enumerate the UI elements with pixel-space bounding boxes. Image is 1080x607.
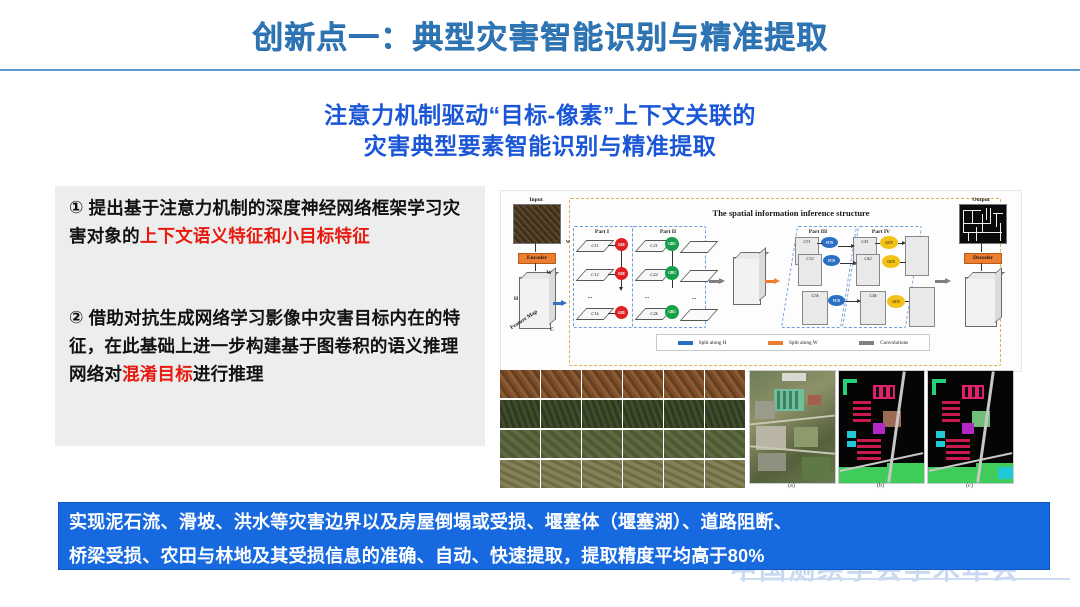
part3-op-1: FCN xyxy=(821,237,838,248)
sample-image-b xyxy=(838,370,925,484)
part3-node-3: C3k xyxy=(802,291,828,325)
part4-out-2 xyxy=(909,287,935,327)
image-patch xyxy=(582,370,622,398)
page-title: 创新点一：典型灾害智能识别与精准提取 xyxy=(0,12,1080,57)
image-patch xyxy=(623,460,663,488)
bullet-2-text-tail: 进行推理 xyxy=(193,364,264,384)
title-divider xyxy=(0,69,1080,71)
slide-root: 创新点一：典型灾害智能识别与精准提取 注意力机制驱动“目标-像素”上下文关联的 … xyxy=(0,0,1080,607)
image-patch xyxy=(582,460,622,488)
bullet-panel: ①提出基于注意力机制的深度神经网络框架学习灾害对象的上下文语义特征和小目标特征 … xyxy=(55,186,485,446)
image-patch xyxy=(705,460,745,488)
part2-op-3: GRU xyxy=(665,305,679,319)
output-feature-cube xyxy=(965,277,997,327)
subtitle: 注意力机制驱动“目标-像素”上下文关联的 灾害典型要素智能识别与精准提取 xyxy=(0,100,1080,162)
decoder-box: Decoder xyxy=(964,253,1002,264)
banner-line-2: 桥梁受损、农田与林地及其受损信息的准确、自动、快速提取，提取精度平均高于80% xyxy=(59,537,1049,571)
image-patch xyxy=(582,430,622,458)
input-image xyxy=(513,204,561,244)
arrow-mid-in xyxy=(709,279,725,284)
part2-op-1: GRU xyxy=(665,237,679,251)
diagram-legend: Split along H Split along W Convolutions xyxy=(656,334,930,351)
image-patch xyxy=(664,430,704,458)
part4-node-3: C4k xyxy=(860,291,886,325)
image-patch xyxy=(500,370,540,398)
part3-node-2: C32 xyxy=(798,254,822,286)
arrow-mid-out xyxy=(765,279,780,284)
summary-banner: 实现泥石流、滑坡、洪水等灾害边界以及房屋倒塌或受损、堰塞体（堰塞湖）、道路阻断、… xyxy=(58,502,1050,570)
part-4-label: Part IV xyxy=(850,229,912,235)
split-w-arrow-icon xyxy=(768,341,783,345)
bullet-item-2: ②借助对抗生成网络学习影像中灾害目标内在的特征，在此基础上进一步构建基于图卷积的… xyxy=(69,304,473,388)
part4-node-2: C42 xyxy=(856,254,880,286)
part-1-label: Part I xyxy=(573,229,631,235)
image-patch xyxy=(705,400,745,428)
part-3-label: Part III xyxy=(789,229,847,235)
diagram-title: The spatial information inference struct… xyxy=(641,208,941,218)
image-patch xyxy=(500,400,540,428)
image-patch xyxy=(664,460,704,488)
architecture-diagram: The spatial information inference struct… xyxy=(500,190,1022,372)
bullet-number-1: ① xyxy=(69,194,84,222)
mid-feature-cube xyxy=(733,257,761,305)
legend-label-0: Split along H xyxy=(696,340,727,346)
split-h-arrow-icon xyxy=(678,341,693,345)
part4-out-1 xyxy=(905,236,929,276)
image-patch xyxy=(664,370,704,398)
image-patch xyxy=(541,430,581,458)
part4-op-3: GCN xyxy=(887,295,905,308)
part-2-label: Part II xyxy=(632,229,704,235)
part3-op-3: FCN xyxy=(828,295,845,306)
subtitle-line-2: 灾害典型要素智能识别与精准提取 xyxy=(0,131,1080,162)
encoder-box: Encoder xyxy=(518,253,556,264)
feature-w-label: W xyxy=(545,270,553,276)
output-label: Output xyxy=(953,197,1009,203)
bullet-1-text-highlight: 上下文语义特征和小目标特征 xyxy=(140,226,370,246)
part4-op-2: GCN xyxy=(882,255,900,268)
part3-op-2: FCN xyxy=(823,255,840,266)
bullet-item-1: ①提出基于注意力机制的深度神经网络框架学习灾害对象的上下文语义特征和小目标特征 xyxy=(69,194,473,250)
part2-ellipsis: ... xyxy=(642,294,652,300)
part2-op-2: GRU xyxy=(665,266,679,280)
part1-w-label: W xyxy=(563,239,573,244)
subtitle-line-1: 注意力机制驱动“目标-像素”上下文关联的 xyxy=(0,100,1080,131)
image-patch xyxy=(623,400,663,428)
legend-item-1: Split along W xyxy=(768,340,818,346)
banner-line-1: 实现泥石流、滑坡、洪水等灾害边界以及房屋倒塌或受损、堰塞体（堰塞湖）、道路阻断、 xyxy=(59,503,1049,537)
bullet-2-text-highlight: 混淆目标 xyxy=(122,364,193,384)
image-patch xyxy=(705,370,745,398)
sample-image-row: (a) (b) xyxy=(500,370,1020,494)
image-patch xyxy=(705,430,745,458)
image-patch xyxy=(623,430,663,458)
feature-c-label: C xyxy=(548,327,556,333)
legend-item-0: Split along H xyxy=(678,340,727,346)
arrow-to-decoder xyxy=(935,279,951,284)
image-patch xyxy=(664,400,704,428)
feature-h-label: H xyxy=(512,296,520,302)
image-patch xyxy=(541,460,581,488)
image-patch xyxy=(582,400,622,428)
caption-c: (c) xyxy=(927,483,1012,489)
caption-a: (a) xyxy=(749,483,834,489)
image-patch xyxy=(541,370,581,398)
sample-image-a xyxy=(749,370,836,484)
part1-op-3: GRU xyxy=(615,306,628,319)
legend-item-2: Convolutions xyxy=(859,340,908,346)
convolution-arrow-icon xyxy=(859,341,874,345)
image-patch xyxy=(623,370,663,398)
caption-b: (b) xyxy=(838,483,923,489)
legend-label-2: Convolutions xyxy=(877,340,908,346)
part1-op-2: GRU xyxy=(615,267,628,280)
part1-ellipsis: ... xyxy=(585,294,595,300)
image-patch xyxy=(500,460,540,488)
output-image xyxy=(959,204,1007,244)
watermark-rule xyxy=(740,578,1070,580)
part1-op-1: GRU xyxy=(615,238,628,251)
sample-image-c xyxy=(927,370,1014,484)
arrow-to-part1 xyxy=(553,301,567,306)
part2-out-ellipsis: ... xyxy=(689,295,699,301)
input-label: Input xyxy=(508,197,564,203)
part4-op-1: GCN xyxy=(880,236,898,249)
image-patch-grid xyxy=(500,370,745,488)
image-patch xyxy=(500,430,540,458)
image-patch xyxy=(541,400,581,428)
legend-label-1: Split along W xyxy=(786,340,818,346)
bullet-number-2: ② xyxy=(69,304,84,332)
